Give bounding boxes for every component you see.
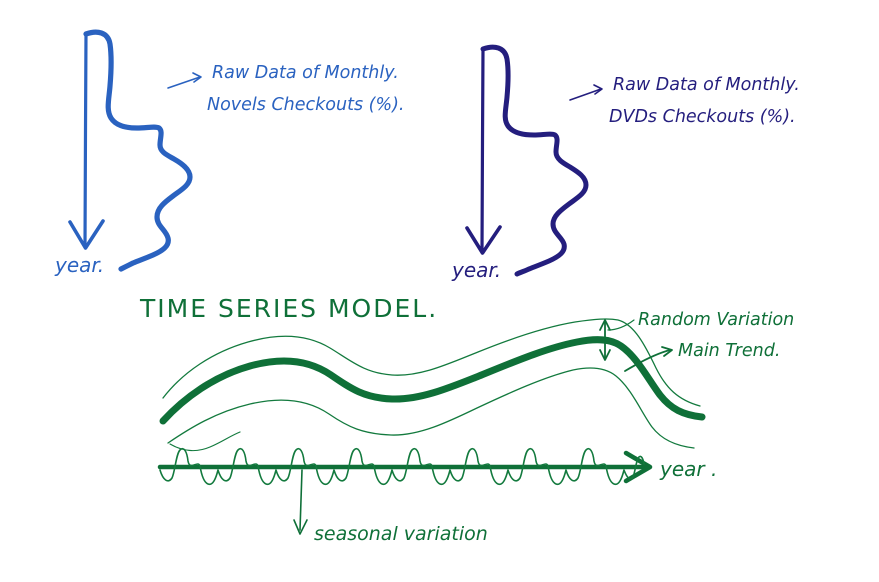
sketch-canvas: Raw Data of Monthly. Novels Checkouts (%… (0, 0, 879, 582)
novels-label-line2: Novels Checkouts (%). (207, 95, 404, 115)
panel-novels: Raw Data of Monthly. Novels Checkouts (%… (54, 32, 404, 277)
novels-raw-data-curve (86, 32, 190, 269)
panel-time-series-model: TIME SERIES MODEL. Random Variation (139, 294, 794, 545)
novels-year-axis-arrow (70, 33, 103, 248)
novels-year-label: year. (54, 253, 104, 277)
seasonal-variation-pointer-arrow (294, 470, 307, 534)
dvds-raw-data-curve (483, 47, 586, 274)
seasonal-year-label: year . (659, 457, 717, 481)
dvds-label-line1: Raw Data of Monthly. (613, 75, 800, 95)
dvds-label-pointer-arrow (570, 85, 602, 100)
seasonal-variation-label: seasonal variation (314, 523, 488, 545)
time-series-model-heading: TIME SERIES MODEL. (139, 294, 438, 323)
dvds-year-label: year. (451, 258, 501, 282)
novels-label-pointer-arrow (168, 73, 201, 88)
main-trend-label: Main Trend. (678, 341, 780, 361)
dvds-year-axis-arrow (467, 49, 500, 253)
random-variation-label: Random Variation (638, 310, 794, 330)
lower-envelope-curve (168, 368, 694, 448)
whiteboard-sketch: Raw Data of Monthly. Novels Checkouts (%… (0, 0, 879, 582)
novels-label-line1: Raw Data of Monthly. (212, 63, 399, 83)
panel-dvds: Raw Data of Monthly. DVDs Checkouts (%).… (451, 47, 800, 282)
dvds-label-line2: DVDs Checkouts (%). (609, 107, 796, 127)
